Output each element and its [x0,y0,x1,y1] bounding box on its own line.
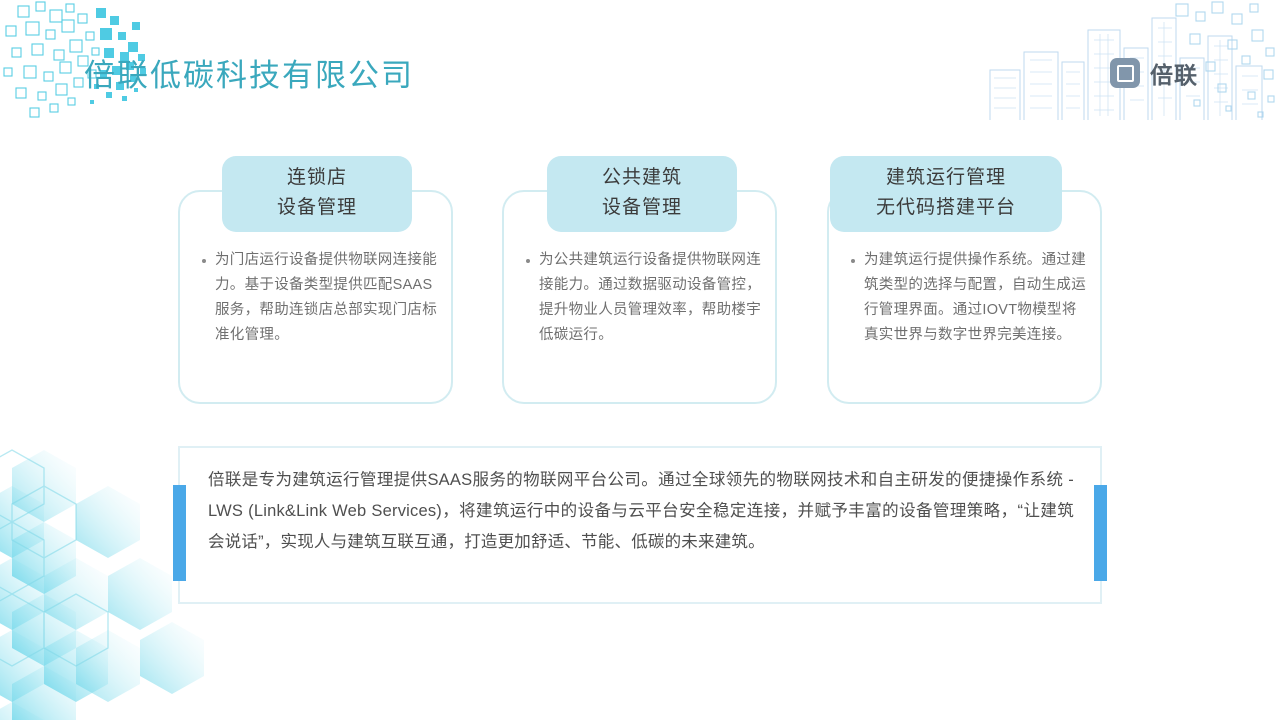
bullet-icon [526,259,530,263]
card-pill-line-1: 连锁店 [222,163,412,193]
card-pill-line-2: 无代码搭建平台 [830,193,1062,223]
card-body-text: 为公共建筑运行设备提供物联网连接能力。通过数据驱动设备管控，提升物业人员管理效率… [539,248,761,348]
card-header-pill: 建筑运行管理 无代码搭建平台 [830,156,1062,232]
card-body-text: 为门店运行设备提供物联网连接能力。基于设备类型提供匹配SAAS服务，帮助连锁店总… [215,248,437,348]
card-body-text: 为建筑运行提供操作系统。通过建筑类型的选择与配置，自动生成运行管理界面。通过IO… [864,248,1086,348]
card-pill-line-2: 设备管理 [222,193,412,223]
feature-cards: 连锁店 设备管理 为门店运行设备提供物联网连接能力。基于设备类型提供匹配SAAS… [0,0,1280,720]
card-pill-line-2: 设备管理 [547,193,737,223]
card-header-pill: 连锁店 设备管理 [222,156,412,232]
feature-card-public-building[interactable]: 公共建筑 设备管理 为公共建筑运行设备提供物联网连接能力。通过数据驱动设备管控，… [502,190,777,404]
bullet-icon [202,259,206,263]
card-body: 为建筑运行提供操作系统。通过建筑类型的选择与配置，自动生成运行管理界面。通过IO… [851,248,1086,348]
accent-bar-left [173,485,186,581]
card-body: 为公共建筑运行设备提供物联网连接能力。通过数据驱动设备管控，提升物业人员管理效率… [526,248,761,348]
feature-card-chain-store[interactable]: 连锁店 设备管理 为门店运行设备提供物联网连接能力。基于设备类型提供匹配SAAS… [178,190,453,404]
card-body: 为门店运行设备提供物联网连接能力。基于设备类型提供匹配SAAS服务，帮助连锁店总… [202,248,437,348]
card-pill-line-1: 公共建筑 [547,163,737,193]
company-summary-panel: 倍联是专为建筑运行管理提供SAAS服务的物联网平台公司。通过全球领先的物联网技术… [178,446,1102,604]
feature-card-nocode-platform[interactable]: 建筑运行管理 无代码搭建平台 为建筑运行提供操作系统。通过建筑类型的选择与配置，… [827,190,1102,404]
card-header-pill: 公共建筑 设备管理 [547,156,737,232]
company-summary-text: 倍联是专为建筑运行管理提供SAAS服务的物联网平台公司。通过全球领先的物联网技术… [208,465,1074,558]
card-pill-line-1: 建筑运行管理 [830,163,1062,193]
accent-bar-right [1094,485,1107,581]
bullet-icon [851,259,855,263]
